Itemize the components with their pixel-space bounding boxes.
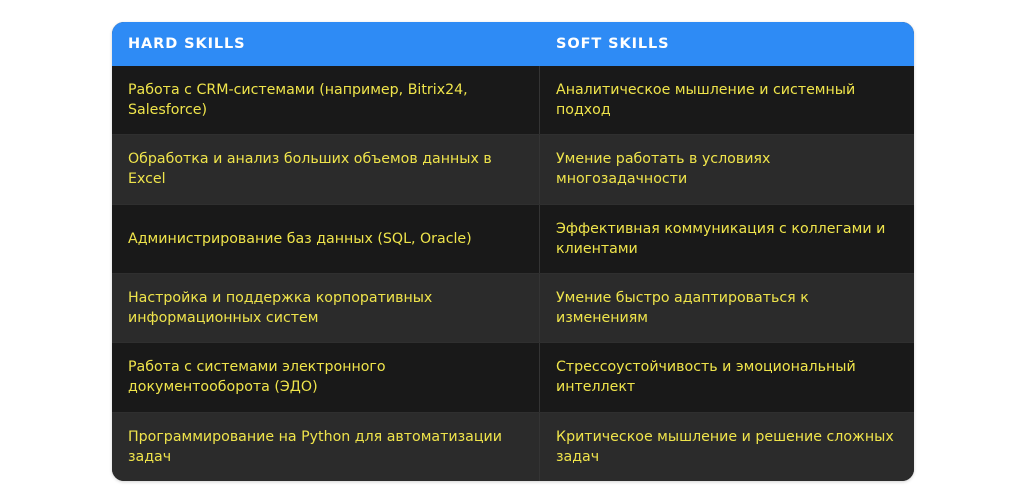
cell-hard-skill-text: Программирование на Python для автоматиз…	[128, 427, 521, 467]
column-header-hard-skills: HARD SKILLS	[112, 22, 540, 66]
cell-hard-skill-text: Работа с CRM-системами (например, Bitrix…	[128, 80, 521, 120]
cell-hard-skill-text: Обработка и анализ больших объемов данны…	[128, 149, 521, 189]
table-row: Администрирование баз данных (SQL, Oracl…	[112, 204, 914, 273]
cell-soft-skill: Аналитическое мышление и системный подхо…	[540, 66, 914, 134]
table-row: Обработка и анализ больших объемов данны…	[112, 134, 914, 203]
column-header-hard-skills-label: HARD SKILLS	[128, 36, 246, 52]
page-root: HARD SKILLS SOFT SKILLS Работа с CRM-сис…	[0, 0, 1024, 504]
cell-hard-skill: Настройка и поддержка корпоративных инфо…	[112, 274, 540, 342]
table-row: Работа с CRM-системами (например, Bitrix…	[112, 66, 914, 134]
skills-comparison-table: HARD SKILLS SOFT SKILLS Работа с CRM-сис…	[112, 22, 914, 481]
cell-hard-skill-text: Администрирование баз данных (SQL, Oracl…	[128, 229, 472, 249]
cell-soft-skill: Критическое мышление и решение сложных з…	[540, 413, 914, 481]
column-header-soft-skills-label: SOFT SKILLS	[556, 36, 670, 52]
table-body: Работа с CRM-системами (например, Bitrix…	[112, 66, 914, 481]
cell-soft-skill-text: Стрессоустойчивость и эмоциональный инте…	[556, 357, 896, 397]
cell-hard-skill: Обработка и анализ больших объемов данны…	[112, 135, 540, 203]
cell-hard-skill-text: Работа с системами электронного документ…	[128, 357, 521, 397]
cell-soft-skill: Стрессоустойчивость и эмоциональный инте…	[540, 343, 914, 411]
cell-hard-skill: Администрирование баз данных (SQL, Oracl…	[112, 205, 540, 273]
cell-hard-skill-text: Настройка и поддержка корпоративных инфо…	[128, 288, 521, 328]
table-row: Работа с системами электронного документ…	[112, 342, 914, 411]
cell-soft-skill: Эффективная коммуникация с коллегами и к…	[540, 205, 914, 273]
table-header-row: HARD SKILLS SOFT SKILLS	[112, 22, 914, 66]
cell-hard-skill: Программирование на Python для автоматиз…	[112, 413, 540, 481]
cell-soft-skill-text: Умение работать в условиях многозадачнос…	[556, 149, 896, 189]
cell-soft-skill-text: Аналитическое мышление и системный подхо…	[556, 80, 896, 120]
cell-soft-skill: Умение работать в условиях многозадачнос…	[540, 135, 914, 203]
cell-soft-skill-text: Эффективная коммуникация с коллегами и к…	[556, 219, 896, 259]
cell-hard-skill: Работа с системами электронного документ…	[112, 343, 540, 411]
column-header-soft-skills: SOFT SKILLS	[540, 22, 914, 66]
cell-soft-skill-text: Умение быстро адаптироваться к изменения…	[556, 288, 896, 328]
table-row: Программирование на Python для автоматиз…	[112, 412, 914, 481]
table-row: Настройка и поддержка корпоративных инфо…	[112, 273, 914, 342]
cell-soft-skill: Умение быстро адаптироваться к изменения…	[540, 274, 914, 342]
cell-hard-skill: Работа с CRM-системами (например, Bitrix…	[112, 66, 540, 134]
cell-soft-skill-text: Критическое мышление и решение сложных з…	[556, 427, 896, 467]
